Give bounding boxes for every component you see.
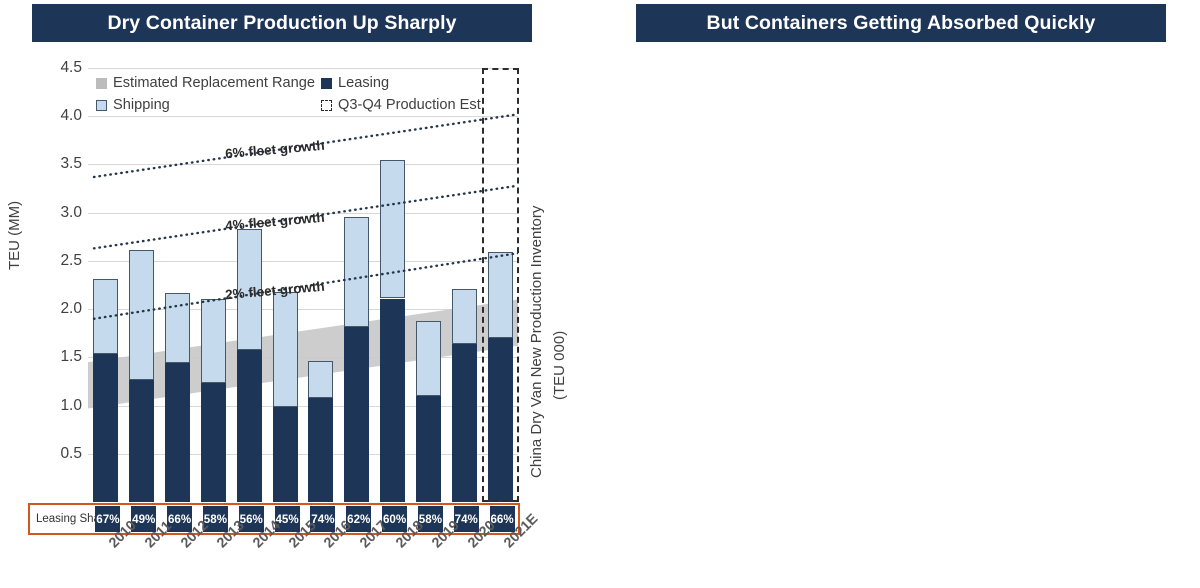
- y-axis-tick-label: 1.0: [60, 397, 82, 415]
- y-axis-tick-label: 2.0: [60, 300, 82, 318]
- y-axis-tick-label: 1.5: [60, 348, 82, 366]
- right-chart-y-axis: 02004006008001,0001,200: [1186, 72, 1200, 424]
- left-chart-plot-area: 6% fleet growth4% fleet growth2% fleet g…: [88, 68, 518, 502]
- left-chart-title: Dry Container Production Up Sharply: [32, 4, 532, 42]
- right-chart-title: But Containers Getting Absorbed Quickly: [636, 4, 1166, 42]
- dashed-square-icon: [321, 100, 332, 111]
- q3-q4-production-estimate-box: [482, 68, 519, 502]
- legend-item-leasing: Leasing: [321, 75, 389, 91]
- navy-square-icon: [321, 78, 332, 89]
- y-axis-tick-label: 4.5: [60, 59, 82, 77]
- left-chart-legend: Estimated Replacement Range Leasing Ship…: [96, 72, 486, 116]
- legend-item-q3-q4-production-est: Q3-Q4 Production Est.: [321, 97, 485, 113]
- y-axis-tick-label: 3.5: [60, 155, 82, 173]
- light-blue-square-icon: [96, 100, 107, 111]
- legend-item-estimated-replacement-range: Estimated Replacement Range: [96, 75, 321, 91]
- legend-item-shipping: Shipping: [96, 97, 321, 113]
- y-axis-tick-label: 3.0: [60, 204, 82, 222]
- legend-label: Leasing: [338, 75, 389, 91]
- y-axis-tick-label: 2.5: [60, 252, 82, 270]
- left-chart-secondary-axis-title-line1: China Dry Van New Production Inventory: [528, 206, 545, 478]
- legend-row-1: Estimated Replacement Range Leasing: [96, 72, 486, 94]
- legend-label: Shipping: [113, 97, 170, 113]
- left-chart-y-axis-title: TEU (MM): [6, 201, 23, 270]
- y-axis-tick-label: 0.5: [60, 445, 82, 463]
- right-chart-panel: But Containers Getting Absorbed Quickly …: [600, 0, 1200, 588]
- dual-chart-figure: Dry Container Production Up Sharply 0.51…: [0, 0, 1200, 588]
- left-chart-secondary-axis-title-line2: (TEU 000): [551, 331, 568, 400]
- grey-square-icon: [96, 78, 107, 89]
- legend-label: Estimated Replacement Range: [113, 75, 315, 91]
- left-chart-y-axis: 0.51.01.52.02.53.03.54.04.5: [28, 68, 82, 502]
- legend-label: Q3-Q4 Production Est.: [338, 97, 485, 113]
- legend-row-2: Shipping Q3-Q4 Production Est.: [96, 94, 486, 116]
- left-chart-panel: Dry Container Production Up Sharply 0.51…: [0, 0, 600, 588]
- y-axis-tick-label: 4.0: [60, 107, 82, 125]
